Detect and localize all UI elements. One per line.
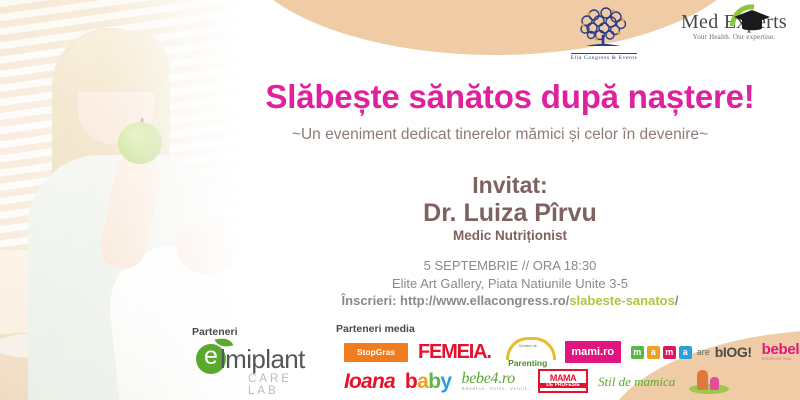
invited-label: Invitat:: [300, 172, 720, 199]
signup-prefix: Înscrieri: http://www.ellacongress.ro/: [342, 293, 570, 308]
bebe4-sub: Sanatos. Voios. Voinic: [462, 387, 529, 392]
logo-stil-de-mamica[interactable]: Stil de mamica: [598, 375, 675, 388]
signup-slug: slabeste-sanatos: [569, 293, 675, 308]
logo-mama-are-blog[interactable]: m a m a are bIOG!: [631, 345, 752, 359]
baby-letter-b: b: [405, 371, 417, 392]
cube-letter-2: a: [647, 346, 660, 359]
logo-stopgras[interactable]: StopGras: [344, 343, 408, 362]
med-experts-logo[interactable]: Med Experts Your Health. Our expertise.: [676, 12, 792, 58]
arc-icon: [506, 337, 556, 360]
logo-bebe4-ro[interactable]: bebe4.ro Sanatos. Voios. Voinic: [462, 371, 529, 392]
logo-femeia[interactable]: FEMEIA.: [418, 342, 491, 362]
elmiplant-subtitle: CARE LAB: [248, 373, 328, 397]
mamablog-are: are: [697, 348, 710, 357]
logo-mami-ro[interactable]: mami.ro: [565, 341, 621, 363]
logo-bebelu-ro[interactable]: bebelu.ro Bebelusul meu: [762, 342, 800, 362]
invited-speaker-name: Dr. Luiza Pîrvu: [300, 199, 720, 228]
subheadline: ~Un eveniment dedicat tinerelor mămici ș…: [210, 126, 790, 144]
logo-centrul-de-parenting[interactable]: Centrul de Parenting: [501, 337, 555, 367]
event-signup-url[interactable]: Înscrieri: http://www.ellacongress.ro/sl…: [270, 293, 750, 308]
partners-label: Parteneri: [192, 326, 238, 338]
cube-letter-3: m: [663, 346, 676, 359]
event-date: 5 SEPTEMBRIE // ORA 18:30: [300, 258, 720, 273]
logo-ioana[interactable]: Ioana: [344, 371, 395, 392]
graduation-cap-icon: [728, 4, 776, 39]
logo-baby[interactable]: baby: [405, 371, 452, 392]
mamablog-blog: bIOG!: [715, 345, 752, 359]
cube-letter-4: a: [679, 346, 692, 359]
invited-speaker-role: Medic Nutriționist: [300, 228, 720, 243]
parenting-top: Centrul de: [518, 344, 536, 348]
baby-letter-y: y: [440, 371, 451, 392]
media-partners-row-1: StopGras FEMEIA. Centrul de Parenting ma…: [344, 337, 800, 367]
baby-letter-b2: b: [428, 371, 440, 392]
bebelu-sub: Bebelusul meu: [762, 357, 792, 362]
mamaprof-bottom: DE PROFESIE: [540, 383, 586, 388]
baby-letter-a: a: [417, 371, 428, 392]
bebe4-word: bebe4.ro: [462, 371, 515, 387]
bebelu-word: bebelu.ro: [762, 342, 800, 357]
child-figure-icon: [710, 377, 719, 390]
elmiplant-word: lmiplant: [220, 344, 305, 375]
signup-suffix: /: [675, 293, 679, 308]
mother-figure-icon: [697, 370, 708, 390]
event-banner: Ella Congress & Events Med Experts Your …: [0, 0, 800, 400]
cube-letter-1: m: [631, 346, 644, 359]
ella-congress-logo[interactable]: Ella Congress & Events: [556, 4, 652, 60]
ground-shape: [689, 384, 729, 394]
media-partners-label: Parteneri media: [336, 323, 415, 335]
elmiplant-logo[interactable]: lmiplant CARE LAB: [196, 340, 328, 390]
headline: Slăbește sănătos după naștere!: [230, 78, 790, 116]
event-venue: Elite Art Gallery, Piata Natiunile Unite…: [270, 276, 750, 291]
logo-mama-de-profesie[interactable]: MAMA DE PROFESIE: [538, 369, 588, 393]
media-partners-row-2: Ioana baby bebe4.ro Sanatos. Voios. Voin…: [344, 366, 733, 396]
ella-congress-caption: Ella Congress & Events: [571, 53, 638, 61]
logo-family-illustration[interactable]: [685, 366, 733, 396]
swirl-tree-icon: [556, 4, 652, 46]
